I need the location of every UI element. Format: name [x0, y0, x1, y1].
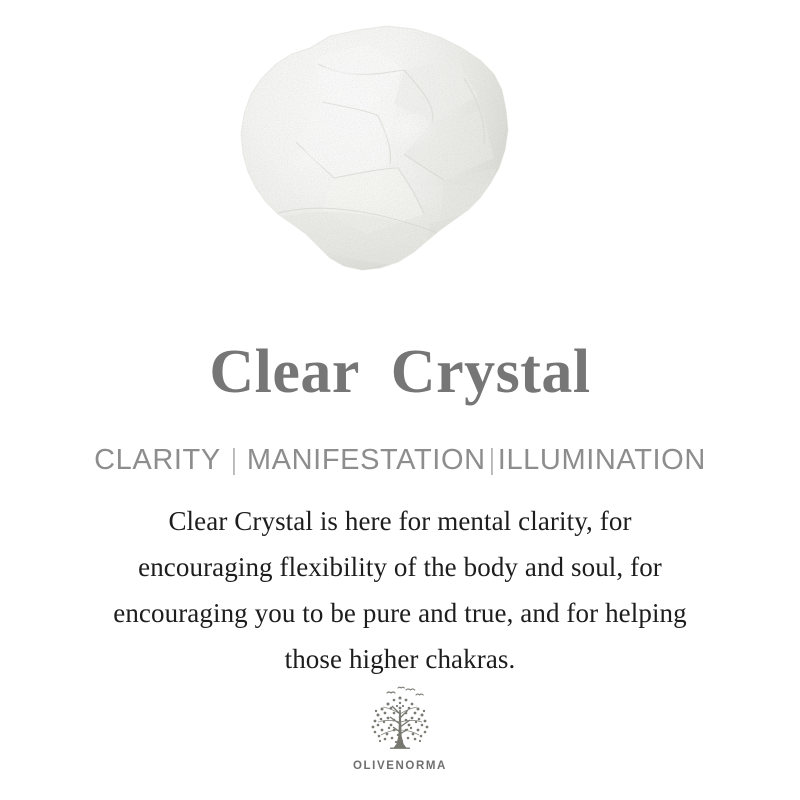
- description-line: Clear Crystal is here for mental clarity…: [50, 498, 750, 544]
- product-title: Clear Crystal: [0, 336, 800, 408]
- keyword-manifestation: MANIFESTATION: [247, 444, 486, 476]
- keyword-separator-1: |: [232, 442, 236, 478]
- product-card: Clear Crystal CLARITY|MANIFESTATION|ILLU…: [0, 0, 800, 800]
- product-image-container: [0, 0, 800, 310]
- clear-crystal-image: [218, 18, 558, 308]
- keyword-separator-2: |: [489, 442, 493, 478]
- keyword-illumination: ILLUMINATION: [498, 444, 706, 476]
- tree-of-life-icon: [354, 684, 446, 758]
- description-line: encouraging you to be pure and true, and…: [50, 590, 750, 636]
- product-description: Clear Crystal is here for mental clarity…: [50, 498, 750, 682]
- description-line: those higher chakras.: [50, 636, 750, 682]
- description-line: encouraging flexibility of the body and …: [50, 544, 750, 590]
- keyword-subtitle: CLARITY|MANIFESTATION|ILLUMINATION: [0, 442, 800, 478]
- keyword-clarity: CLARITY: [94, 444, 221, 476]
- brand-logo: OLIVENORMA: [0, 684, 800, 772]
- brand-name: OLIVENORMA: [353, 760, 447, 772]
